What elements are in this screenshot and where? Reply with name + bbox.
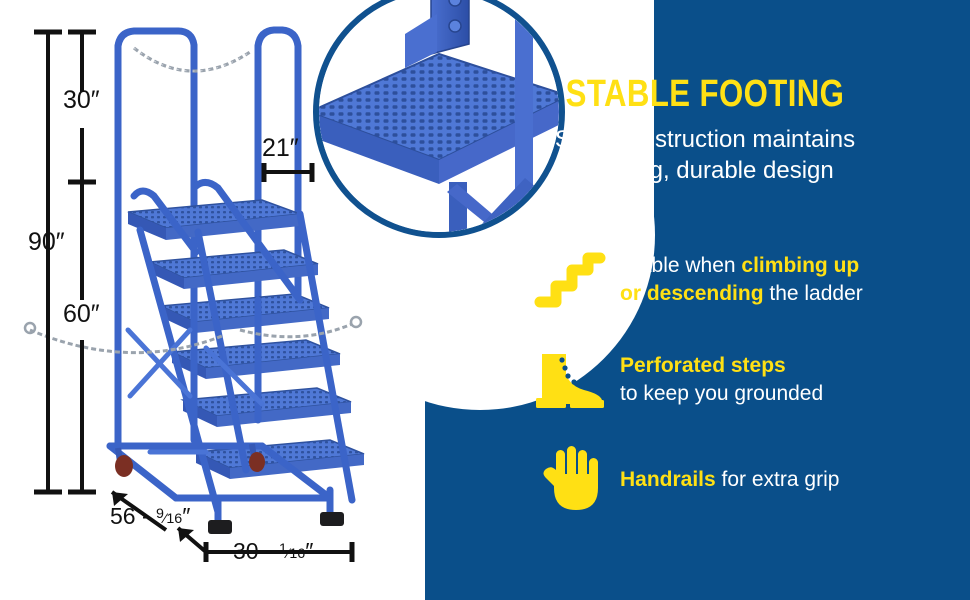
subtitle-line-2: a strong, durable design bbox=[470, 155, 940, 186]
dimension-label-platform-height: 60″ bbox=[63, 300, 100, 329]
feature-bold-1: Handrails bbox=[620, 468, 716, 491]
base-length-whole: 56 - bbox=[110, 503, 156, 529]
dimension-label-base-length: 56 - 9⁄16″ bbox=[110, 503, 190, 530]
base-length-numerator: 9 bbox=[156, 506, 164, 522]
feature-bold-1: Perforated steps bbox=[620, 354, 786, 377]
dimension-label-top-rail-height: 30″ bbox=[63, 86, 100, 115]
base-width-numerator: 1 bbox=[279, 541, 287, 557]
base-length-unit: ″ bbox=[182, 503, 190, 529]
feature-plain-1: Stable when bbox=[620, 254, 741, 277]
base-width-denominator: 16 bbox=[289, 546, 305, 562]
hand-icon bbox=[520, 444, 620, 516]
feature-plain-1: for extra grip bbox=[716, 468, 840, 491]
work-boot-icon-glyph bbox=[530, 348, 610, 412]
infographic-canvas: 30″ 90″ 60″ 21″ 56 - 9⁄16″ 30 - 1⁄16″ bbox=[0, 0, 970, 600]
dimension-line-step-depth bbox=[264, 163, 312, 182]
stairs-icon-glyph bbox=[532, 250, 608, 310]
subtitle-line-1: Steel construction maintains bbox=[470, 124, 940, 155]
dimension-label-base-width: 30 - 1⁄16″ bbox=[233, 538, 313, 565]
feature-plain-2: the ladder bbox=[764, 282, 863, 305]
work-boot-icon bbox=[520, 348, 620, 412]
feature-line-2: to keep you grounded bbox=[620, 380, 950, 408]
dimension-line-platform-height bbox=[68, 182, 96, 492]
base-length-denominator: 16 bbox=[166, 511, 182, 527]
inset-clip bbox=[319, 0, 559, 232]
base-width-whole: 30 - bbox=[233, 538, 279, 564]
stairs-icon bbox=[520, 250, 620, 310]
feature-text-perforated-steps: Perforated steps to keep you grounded bbox=[620, 352, 950, 408]
page-title: STABLE FOOTING bbox=[512, 72, 897, 116]
feature-text-climbing: Stable when climbing up or descending th… bbox=[620, 252, 950, 308]
hand-icon-glyph bbox=[534, 444, 606, 516]
dimension-line-overall-height bbox=[34, 32, 62, 492]
feature-item-climbing: Stable when climbing up or descending th… bbox=[520, 238, 950, 322]
feature-line-1: Perforated steps bbox=[620, 352, 950, 380]
page-subtitle: Steel construction maintains a strong, d… bbox=[470, 124, 940, 186]
feature-text-handrails: Handrails for extra grip bbox=[620, 466, 950, 494]
dimension-label-overall-height: 90″ bbox=[28, 228, 65, 257]
base-width-unit: ″ bbox=[305, 538, 313, 564]
feature-item-handrails: Handrails for extra grip bbox=[520, 438, 950, 522]
feature-item-perforated-steps: Perforated steps to keep you grounded bbox=[520, 338, 950, 422]
dimension-label-step-depth: 21″ bbox=[262, 134, 299, 163]
feature-bold-1: climbing up bbox=[741, 254, 859, 277]
feature-line-1: Handrails for extra grip bbox=[620, 466, 950, 494]
feature-bold-2: or descending bbox=[620, 282, 764, 305]
feature-line-1: Stable when climbing up bbox=[620, 252, 950, 280]
feature-line-2: or descending the ladder bbox=[620, 280, 950, 308]
perforated-step-closeup bbox=[319, 0, 559, 232]
